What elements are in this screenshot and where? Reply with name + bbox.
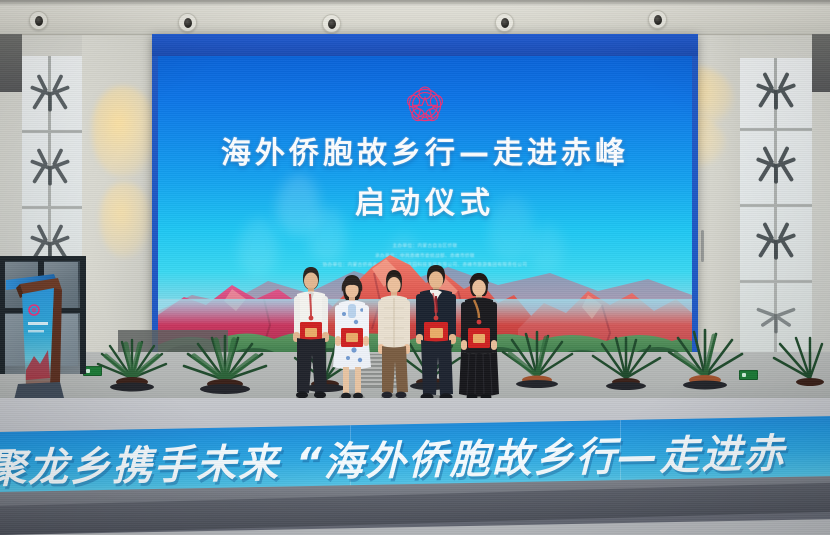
person-3-woman-cream-jacket (372, 266, 416, 404)
cycad-palm-planter (182, 328, 268, 394)
person-2-woman-floral-dress (330, 270, 374, 404)
door-handle (701, 230, 704, 262)
cycad-palm-planter (764, 330, 826, 390)
lattice-motif (754, 68, 798, 112)
wall-pier-left (82, 34, 154, 364)
person-4-man-dark-suit (412, 260, 460, 406)
lattice-motif (754, 218, 798, 262)
event-photo: 海外侨胞故乡行—走进赤峰 启动仪式 主办单位：内蒙古自治区侨联 承办单位：中共赤… (0, 0, 830, 535)
ceiling-soffit-right (812, 34, 830, 92)
led-screen-title: 海外侨胞故乡行—走进赤峰 (158, 134, 692, 174)
recessed-downlight (495, 13, 514, 32)
person-1-man-white-shirt (288, 262, 334, 404)
cycad-palm-planter (588, 330, 664, 390)
recessed-downlight (178, 13, 197, 32)
recessed-downlight (648, 10, 667, 29)
cycad-palm-planter (96, 330, 168, 392)
overseas-chinese-federation-emblem (402, 82, 448, 128)
recessed-downlight (29, 11, 48, 30)
ceiling-soffit-left (0, 34, 22, 92)
decorative-lattice-screen-right (740, 58, 812, 358)
led-screen-bezel (152, 34, 698, 56)
recessed-downlight (322, 14, 341, 33)
speaker-podium (6, 258, 66, 406)
lattice-motif (28, 70, 72, 114)
led-screen-subtitle: 启动仪式 (158, 178, 692, 222)
person-5-woman-black-dress (456, 268, 502, 406)
cycad-palm-planter (664, 324, 746, 390)
cycad-palm-planter (498, 326, 576, 388)
lattice-motif (28, 144, 72, 188)
ceiling-shadow (0, 0, 830, 6)
lattice-motif (754, 142, 798, 186)
